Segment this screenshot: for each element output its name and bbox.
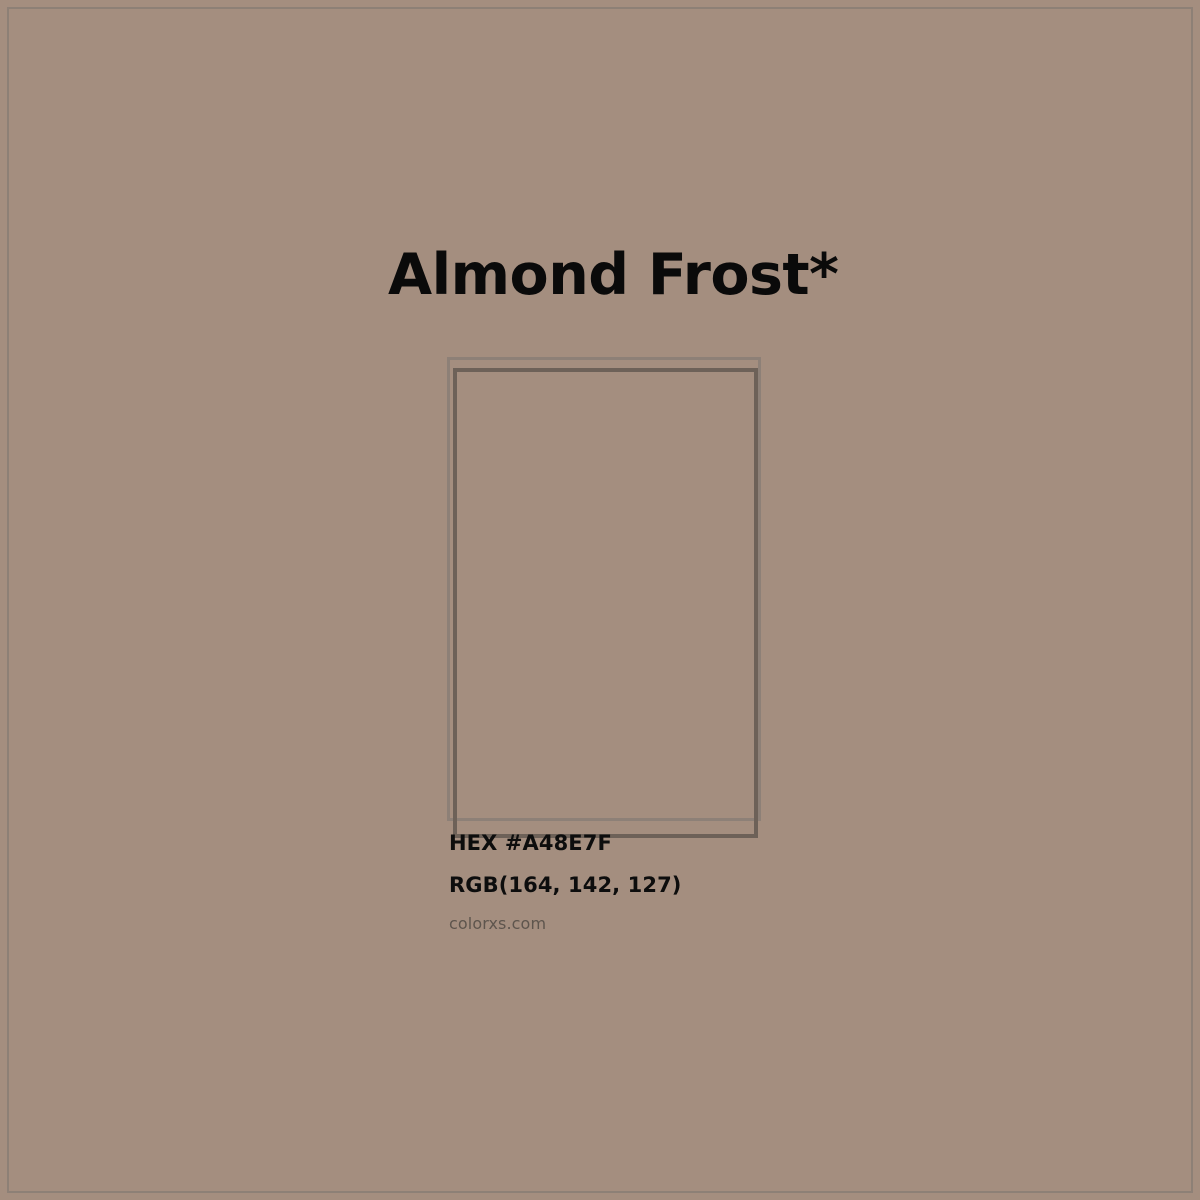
color-metadata: HEX #A48E7F RGB(164, 142, 127) colorxs.c… [449, 833, 969, 932]
page-title: Almond Frost* [388, 246, 838, 306]
hex-value: HEX #A48E7F [449, 833, 969, 854]
color-swatch [447, 357, 763, 823]
swatch-inner-frame [453, 368, 758, 838]
color-swatch-page: Almond Frost* HEX #A48E7F RGB(164, 142, … [0, 0, 1200, 1200]
rgb-value: RGB(164, 142, 127) [449, 875, 969, 896]
source-attribution: colorxs.com [449, 916, 969, 932]
